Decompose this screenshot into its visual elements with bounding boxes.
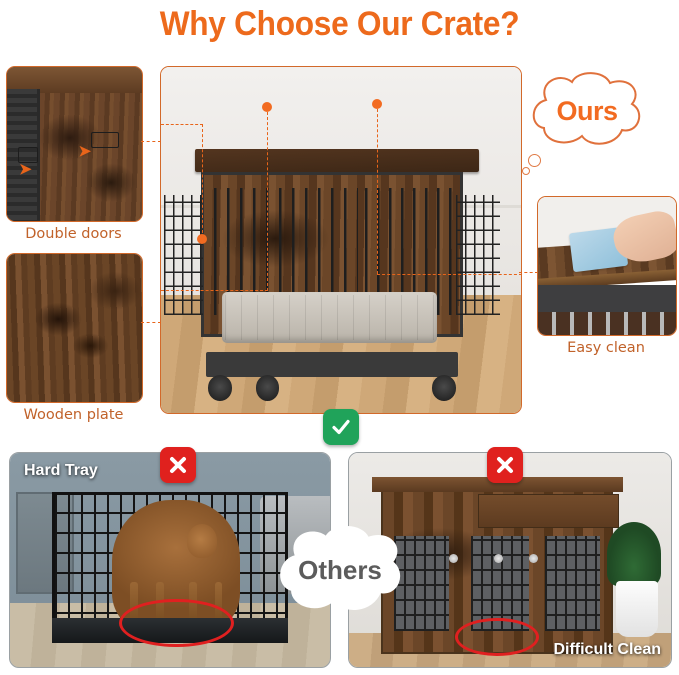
caption-double-doors: Double doors bbox=[6, 224, 141, 244]
callout-dot-2 bbox=[262, 102, 272, 112]
callout-dot-3 bbox=[372, 99, 382, 109]
connector-doors-to-main bbox=[141, 141, 161, 142]
caption-easy-clean: Easy clean bbox=[537, 338, 675, 358]
dog-head bbox=[187, 524, 218, 558]
connector-main-to-clean bbox=[519, 272, 538, 273]
feature-panel-double-doors[interactable]: ➤ ➤ bbox=[6, 66, 143, 222]
ours-bubble-dot-large bbox=[528, 154, 541, 167]
cross-icon bbox=[167, 454, 189, 476]
crate-tabletop bbox=[195, 149, 479, 172]
status-badge-good bbox=[323, 409, 359, 445]
problem-highlight-ellipse bbox=[455, 618, 538, 656]
cabinet-mesh-right bbox=[545, 536, 600, 630]
status-badge-bad-right bbox=[487, 447, 523, 483]
wooden-plate-texture bbox=[7, 254, 142, 402]
callout-line-vertical-3 bbox=[377, 104, 378, 274]
callout-line-bottom-left bbox=[161, 290, 268, 291]
ours-bubble-label: Ours bbox=[524, 70, 650, 152]
caster-wheel-right bbox=[432, 375, 456, 400]
others-bubble: Others bbox=[272, 522, 408, 618]
feature-panel-wooden-plate[interactable] bbox=[6, 253, 143, 403]
check-icon bbox=[330, 416, 352, 438]
easy-clean-frame bbox=[538, 285, 676, 313]
ours-bubble-dot-small bbox=[522, 167, 530, 175]
callout-dot-1 bbox=[197, 234, 207, 244]
page-title: Why Choose Our Crate? bbox=[24, 2, 655, 46]
cabinet-knob-1 bbox=[449, 554, 458, 563]
cabinet-drawer bbox=[478, 494, 620, 528]
problem-highlight-ellipse bbox=[119, 599, 234, 648]
easy-clean-bars bbox=[538, 312, 676, 335]
pointer-arrow-right-icon: ➤ bbox=[79, 144, 92, 159]
cross-icon bbox=[494, 454, 516, 476]
plant-pot bbox=[616, 581, 658, 637]
dog-crate-furniture bbox=[201, 160, 464, 354]
callout-line-vertical-2 bbox=[267, 107, 268, 291]
others-bubble-label: Others bbox=[272, 522, 408, 618]
door-latch-right bbox=[91, 132, 119, 148]
connector-wood-to-main bbox=[141, 322, 161, 323]
plant-leaves bbox=[607, 522, 662, 586]
cabinet-knob-3 bbox=[529, 554, 538, 563]
caster-wheel-front bbox=[256, 375, 280, 400]
ours-bubble: Ours bbox=[524, 70, 650, 152]
callout-line-vertical-1 bbox=[202, 124, 203, 238]
crate-base-frame bbox=[206, 352, 458, 377]
pointer-arrow-left-icon: ➤ bbox=[19, 162, 32, 177]
label-hard-tray: Hard Tray bbox=[24, 462, 98, 480]
status-badge-bad-left bbox=[160, 447, 196, 483]
main-product-image[interactable] bbox=[160, 66, 522, 414]
mesh-door-left bbox=[164, 195, 203, 315]
callout-line-top-left bbox=[161, 124, 203, 125]
double-doors-photo: ➤ ➤ bbox=[7, 67, 142, 221]
pet-cushion bbox=[222, 292, 437, 342]
feature-panel-easy-clean[interactable] bbox=[537, 196, 677, 336]
cabinet-knob-2 bbox=[494, 554, 503, 563]
callout-line-right bbox=[377, 274, 522, 275]
label-difficult-clean: Difficult Clean bbox=[553, 641, 661, 659]
caption-wooden-plate: Wooden plate bbox=[6, 405, 141, 425]
cabinet-mesh-center bbox=[471, 536, 529, 630]
mesh-door-right bbox=[456, 195, 501, 315]
caster-wheel-left bbox=[208, 375, 232, 400]
